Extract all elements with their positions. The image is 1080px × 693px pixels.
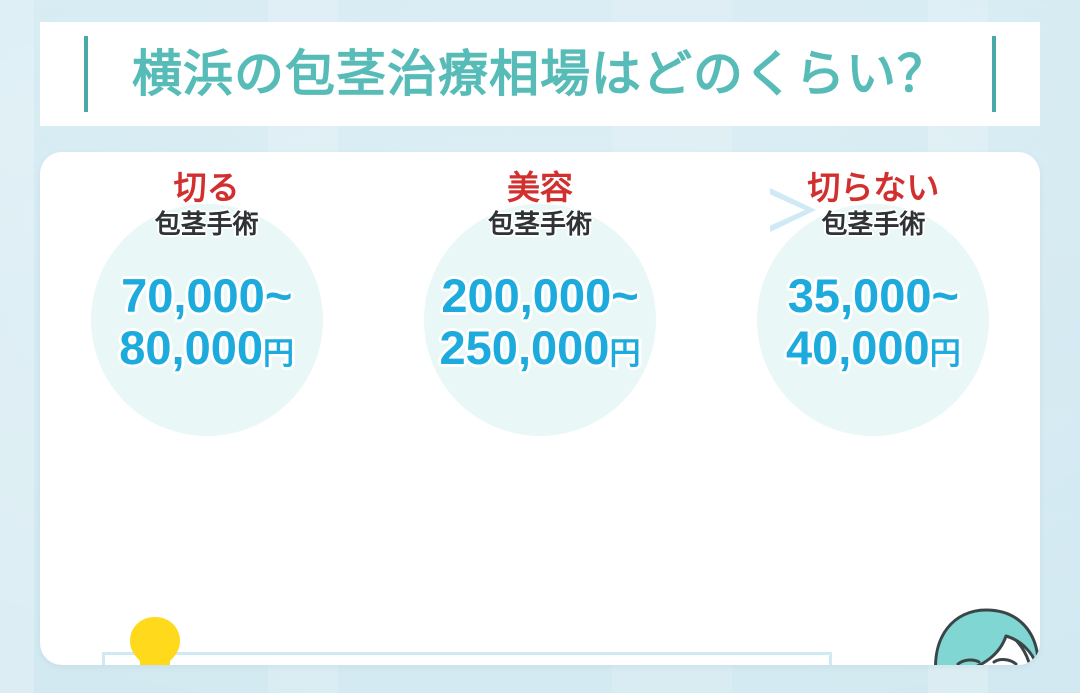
price-column-cosmetic: 美容 包茎手術 200,000~ 250,000円 bbox=[373, 152, 706, 452]
price-columns: 切る 包茎手術 70,000~ 80,000円 美容 包茎手術 200,000~… bbox=[40, 152, 1040, 452]
page-title: 横浜の包茎治療相場はどのくらい？ bbox=[132, 49, 948, 99]
price-line-1: 35,000~ bbox=[786, 270, 961, 323]
price-column-cut: 切る 包茎手術 70,000~ 80,000円 bbox=[40, 152, 373, 452]
column-price: 35,000~ 40,000円 bbox=[786, 270, 961, 375]
infographic-canvas: 横浜の包茎治療相場はどのくらい？ 切る 包茎手術 70,000~ 80,000円… bbox=[0, 0, 1080, 693]
price-column-nocut: 切らない 包茎手術 35,000~ 40,000円 bbox=[707, 152, 1040, 452]
column-price: 200,000~ 250,000円 bbox=[440, 270, 641, 375]
price-line-1: 200,000~ bbox=[440, 270, 641, 323]
bubble-tail-fill bbox=[767, 193, 805, 227]
column-subheading: 包茎手術 bbox=[488, 210, 592, 240]
currency-unit: 円 bbox=[930, 336, 961, 371]
background-band bbox=[0, 0, 34, 693]
price-amount: 250,000 bbox=[440, 321, 610, 374]
currency-unit: 円 bbox=[263, 336, 294, 371]
title-rule-left bbox=[84, 36, 88, 112]
title-rule-right bbox=[992, 36, 996, 112]
column-heading: 切る bbox=[174, 170, 240, 207]
column-heading: 美容 bbox=[507, 170, 573, 207]
title-banner: 横浜の包茎治療相場はどのくらい？ bbox=[40, 22, 1040, 126]
column-subheading: 包茎手術 bbox=[821, 210, 925, 240]
price-line-2: 40,000円 bbox=[786, 322, 961, 375]
price-line-1: 70,000~ bbox=[119, 270, 294, 323]
price-amount: 40,000 bbox=[786, 321, 930, 374]
price-line-2: 80,000円 bbox=[119, 322, 294, 375]
recommendation-bubble: 費用がわかりやすく掲載されている 明瞭会計のクリニックを選ぶのがおすすめ! bbox=[102, 652, 832, 665]
column-price: 70,000~ 80,000円 bbox=[119, 270, 294, 375]
currency-unit: 円 bbox=[609, 336, 640, 371]
bubble-text-wrap: 費用がわかりやすく掲載されている 明瞭会計のクリニックを選ぶのがおすすめ! bbox=[105, 655, 829, 665]
price-line-2: 250,000円 bbox=[440, 322, 641, 375]
content-card: 切る 包茎手術 70,000~ 80,000円 美容 包茎手術 200,000~… bbox=[40, 152, 1040, 665]
column-subheading: 包茎手術 bbox=[155, 210, 259, 240]
pointing-man-icon bbox=[866, 592, 1040, 665]
lightbulb-icon bbox=[124, 615, 186, 665]
price-amount: 80,000 bbox=[119, 321, 263, 374]
column-heading: 切らない bbox=[807, 170, 939, 207]
